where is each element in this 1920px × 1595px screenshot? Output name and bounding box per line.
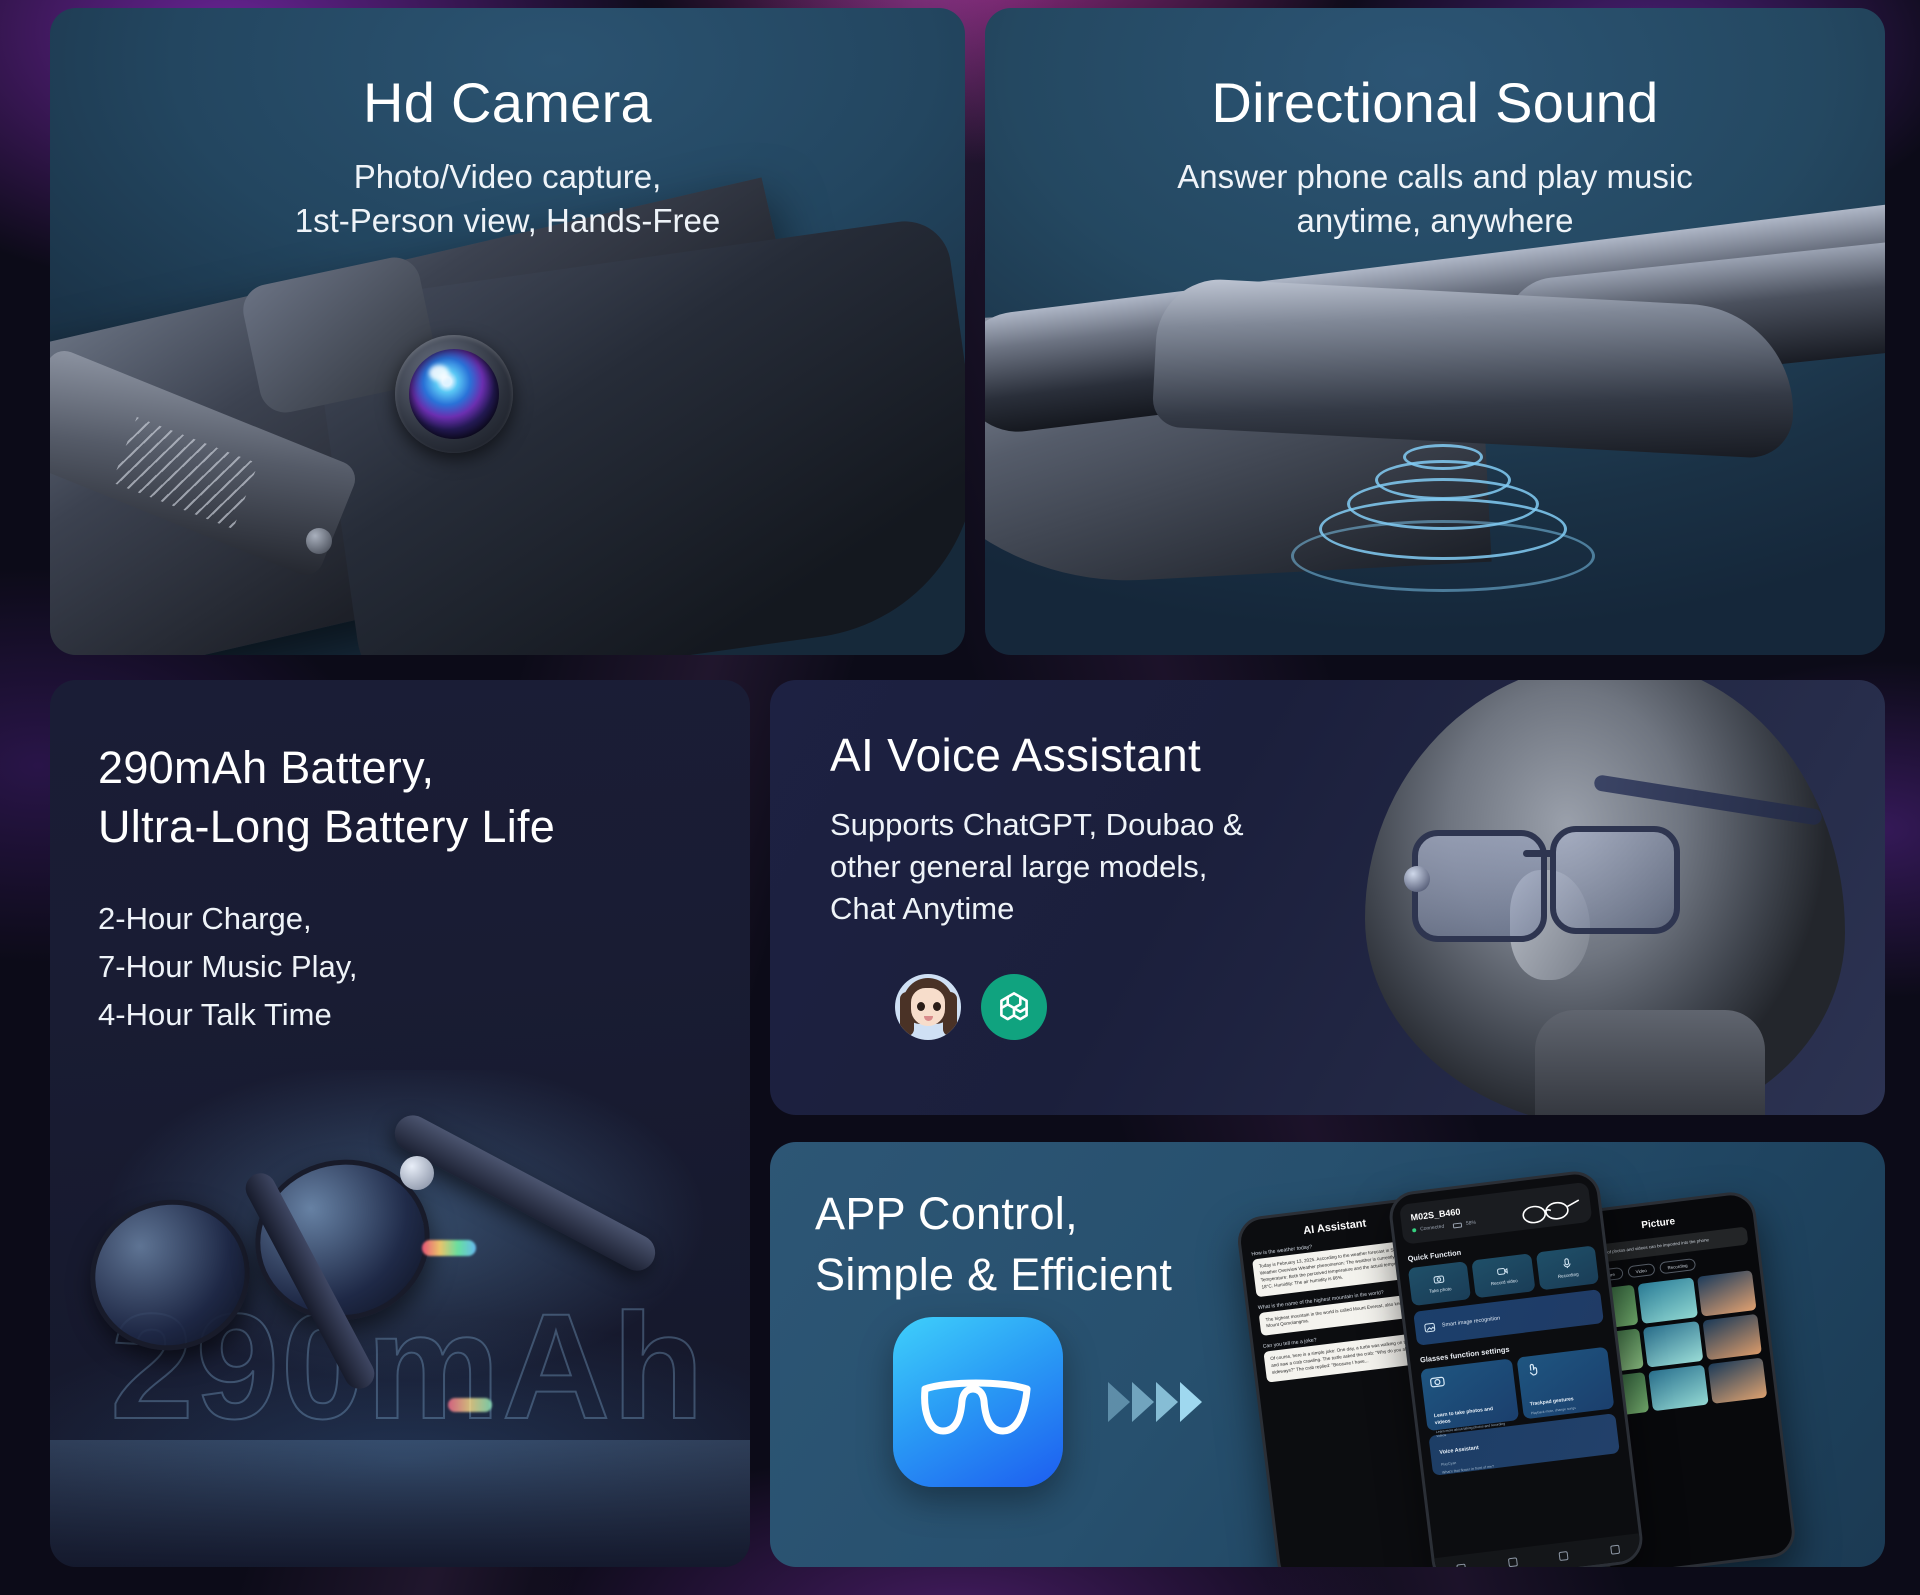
worn-glasses-camera-icon <box>1404 866 1430 892</box>
directional-sound-title: Directional Sound <box>985 70 1885 135</box>
glasses-app-icon[interactable] <box>893 1317 1063 1487</box>
quick-function-label: Recording <box>1557 1272 1578 1280</box>
profile-tab-icon[interactable] <box>1610 1544 1620 1554</box>
phone-tab-bar[interactable] <box>1434 1533 1642 1567</box>
battery-text-block: 290mAh Battery, Ultra-Long Battery Life … <box>98 738 718 1039</box>
ai-voice-subtitle: Supports ChatGPT, Doubao & other general… <box>830 804 1390 930</box>
quick-function-recording[interactable]: Recording <box>1536 1245 1600 1290</box>
camera-module-icon <box>395 335 513 453</box>
directional-sound-subtitle-line2: anytime, anywhere <box>985 199 1885 243</box>
thumbnail[interactable] <box>1638 1278 1698 1324</box>
hinge-screw <box>306 528 332 554</box>
worn-glasses-lens-left <box>1412 830 1547 942</box>
arrow-chevron-4 <box>1180 1382 1202 1422</box>
import-note-text: 5 items of photos and videos can be impo… <box>1592 1237 1710 1258</box>
quick-function-label: Take photo <box>1429 1286 1452 1294</box>
thumbnail[interactable] <box>1643 1321 1703 1367</box>
app-icon-glasses-glyph <box>917 1359 1039 1445</box>
battery-title-line2: Ultra-Long Battery Life <box>98 797 718 856</box>
image-scan-icon <box>1424 1321 1437 1333</box>
avatar-hair-right <box>943 992 957 1036</box>
arrow-chevron-1 <box>1108 1382 1130 1422</box>
thumbnail[interactable] <box>1708 1358 1768 1404</box>
chatgpt-logo-icon[interactable] <box>981 974 1047 1040</box>
prism-flare-2 <box>448 1398 492 1412</box>
camera-lens-icon <box>409 349 499 439</box>
sound-wave-ring-5 <box>1291 520 1595 592</box>
chip-recording[interactable]: Recording <box>1659 1258 1696 1274</box>
directional-sound-text-block: Directional Sound Answer phone calls and… <box>985 70 1885 242</box>
water-surface <box>50 1440 750 1567</box>
quick-function-take-photo[interactable]: Take photo <box>1408 1261 1472 1306</box>
hd-camera-title: Hd Camera <box>50 70 965 135</box>
battery-bullet-list: 2-Hour Charge, 7-Hour Music Play, 4-Hour… <box>98 895 718 1039</box>
battery-title-line1: 290mAh Battery, <box>98 738 718 797</box>
microphone-icon <box>1562 1257 1572 1269</box>
ai-voice-text-block: AI Voice Assistant Supports ChatGPT, Dou… <box>830 728 1390 930</box>
settings-tile-trackpad[interactable]: Trackpad gestures Playback mute, change … <box>1516 1347 1614 1420</box>
quick-function-record-video[interactable]: Record video <box>1472 1253 1536 1298</box>
camera-icon <box>1433 1274 1445 1284</box>
home-tab-icon[interactable] <box>1456 1563 1466 1567</box>
battery-icon <box>1453 1222 1463 1228</box>
card-battery: 290mAh 290mAh Battery, Ultra-Long Batter… <box>50 680 750 1567</box>
mannequin-neck <box>1535 1010 1765 1115</box>
hd-camera-subtitle: Photo/Video capture, 1st-Person view, Ha… <box>50 155 965 242</box>
card-directional-sound: Directional Sound Answer phone calls and… <box>985 8 1885 655</box>
directional-sound-subtitle-line1: Answer phone calls and play music <box>985 155 1885 199</box>
card-app-control: APP Control, Simple & Efficient AI Assis… <box>770 1142 1885 1567</box>
quick-function-label: Record video <box>1490 1278 1517 1286</box>
product-hinge <box>400 1156 434 1190</box>
directional-sound-subtitle: Answer phone calls and play music anytim… <box>985 155 1885 242</box>
thumbnail[interactable] <box>1697 1271 1757 1317</box>
battery-bullet-1: 7-Hour Music Play, <box>98 943 718 991</box>
camera-icon <box>1429 1375 1445 1389</box>
worn-glasses-lens-right <box>1550 826 1680 934</box>
gallery-tab-icon[interactable] <box>1559 1550 1569 1560</box>
ai-voice-subtitle-line2: other general large models, <box>830 846 1390 888</box>
video-icon <box>1497 1266 1509 1276</box>
battery-bullet-2: 4-Hour Talk Time <box>98 991 718 1039</box>
feature-card-grid: Hd Camera Photo/Video capture, 1st-Perso… <box>0 0 1920 1595</box>
ai-voice-subtitle-line1: Supports ChatGPT, Doubao & <box>830 804 1390 846</box>
hd-camera-text-block: Hd Camera Photo/Video capture, 1st-Perso… <box>50 70 965 242</box>
device-status-text: Connected <box>1420 1224 1445 1233</box>
card-ai-voice-assistant: AI Voice Assistant Supports ChatGPT, Dou… <box>770 680 1885 1115</box>
smart-image-recognition-label: Smart image recognition <box>1442 1316 1501 1329</box>
device-battery-text: 58% <box>1466 1220 1477 1227</box>
thumbnail[interactable] <box>1649 1365 1709 1411</box>
avatar-eye-right <box>933 1002 941 1011</box>
chip-video[interactable]: Video <box>1627 1263 1655 1278</box>
settings-tile-photos[interactable]: Learn to take photos and videos Learn mo… <box>1420 1358 1518 1431</box>
worn-glasses-bridge <box>1523 850 1555 857</box>
doubao-avatar-icon[interactable] <box>895 974 961 1040</box>
ai-voice-title: AI Voice Assistant <box>830 728 1390 782</box>
battery-bullet-0: 2-Hour Charge, <box>98 895 718 943</box>
arrow-chevron-3 <box>1156 1382 1178 1422</box>
device-tab-icon[interactable] <box>1508 1557 1518 1567</box>
prism-flare-1 <box>422 1240 476 1256</box>
status-dot-icon <box>1412 1228 1416 1232</box>
hd-camera-subtitle-line2: 1st-Person view, Hands-Free <box>50 199 965 243</box>
touch-icon <box>1525 1362 1539 1376</box>
voice-assistant-title: Voice Assistant <box>1439 1445 1479 1456</box>
card-hd-camera: Hd Camera Photo/Video capture, 1st-Perso… <box>50 8 965 655</box>
avatar-eye-left <box>917 1002 925 1011</box>
thumbnail[interactable] <box>1702 1314 1762 1360</box>
ai-voice-subtitle-line3: Chat Anytime <box>830 888 1390 930</box>
battery-title: 290mAh Battery, Ultra-Long Battery Life <box>98 738 718 857</box>
chatgpt-knot-glyph <box>993 986 1035 1028</box>
hd-camera-subtitle-line1: Photo/Video capture, <box>50 155 965 199</box>
arrow-chevron-2 <box>1132 1382 1154 1422</box>
